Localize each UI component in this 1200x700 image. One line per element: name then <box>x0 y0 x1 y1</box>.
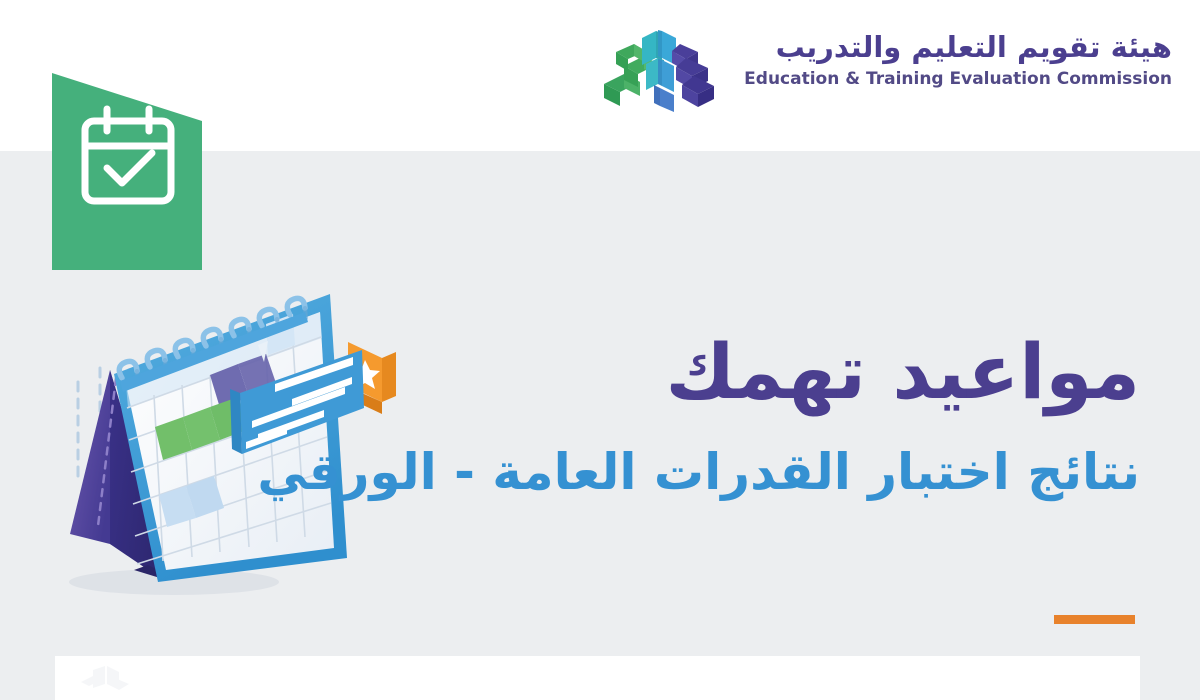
brand-text-block: هيئة تقويم التعليم والتدريب Education & … <box>744 26 1172 89</box>
calendar-check-icon <box>52 73 202 273</box>
hero-text-block: مواعيد تهمك نتائج اختبار القدرات العامة … <box>280 330 1140 501</box>
accent-underline-bar <box>1054 615 1135 624</box>
watermark-logo-icon <box>77 664 137 698</box>
brand-name-arabic: هيئة تقويم التعليم والتدريب <box>744 30 1172 65</box>
page-title: مواعيد تهمك <box>280 330 1140 414</box>
bottom-content-card <box>55 656 1140 700</box>
calendar-check-badge <box>52 73 202 273</box>
brand-logo-group[interactable]: هيئة تقويم التعليم والتدريب Education & … <box>594 26 1172 118</box>
page-root: هيئة تقويم التعليم والتدريب Education & … <box>0 0 1200 700</box>
brand-name-english: Education & Training Evaluation Commissi… <box>744 69 1172 89</box>
page-subtitle: نتائج اختبار القدرات العامة - الورقي <box>280 444 1140 502</box>
etec-palm-logo-icon <box>594 26 724 118</box>
